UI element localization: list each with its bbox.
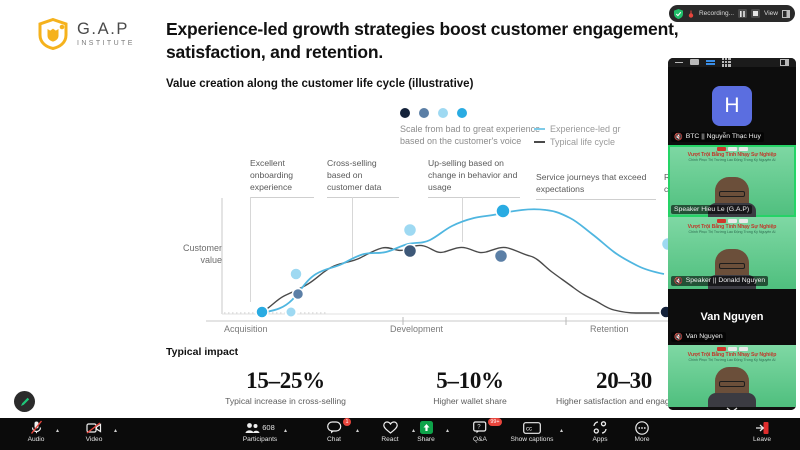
chevron-up-icon[interactable]: ▴ — [560, 427, 563, 434]
avatar: H — [712, 86, 752, 126]
svg-text:cc: cc — [526, 426, 532, 432]
legend-row-experience: Experience-led gr — [534, 122, 621, 135]
participant-name-badge: 🔇 Speaker || Donald Nguyen — [671, 276, 768, 286]
callout-service-journeys-text: Service journeys that exceed expectation… — [536, 172, 646, 194]
microphone-muted-icon: 🔇 — [674, 333, 683, 341]
callout-up-selling-text: Up-selling based on change in behavior a… — [428, 158, 517, 192]
toolbar-label: Audio — [8, 436, 64, 443]
toolbar-label: Leave — [734, 436, 790, 443]
person-silhouette — [715, 367, 749, 407]
shared-banner: Vượt Trội Bằng Tính Nhạy Sự Nghiệp Chinh… — [668, 219, 796, 234]
marker-onboarding-typical — [293, 289, 304, 300]
participants-count: 608 — [262, 423, 275, 432]
annotate-pen-button[interactable] — [14, 391, 35, 412]
more-icon — [614, 420, 670, 435]
legend-label-typical: Typical life cycle — [550, 137, 615, 147]
microphone-muted-icon: 🔇 — [674, 133, 683, 141]
participants-icon: 608 — [232, 420, 288, 435]
toolbar-leave-button[interactable]: Leave — [734, 420, 790, 443]
x-category-acquisition: Acquisition — [224, 324, 268, 334]
stat-value: 15–25% — [183, 368, 388, 394]
marker-acquisition-start — [256, 306, 268, 318]
layout-icon[interactable] — [782, 10, 790, 18]
video-tile[interactable]: Vượt Trội Bằng Tính Nhạy Sự Nghiệp Chinh… — [668, 217, 796, 289]
pen-icon — [19, 396, 31, 408]
x-category-retention: Retention — [590, 324, 629, 334]
legend-row-typical: Typical life cycle — [534, 135, 621, 148]
callout-onboarding: Excellent onboarding experience — [250, 158, 314, 198]
svg-text:?: ? — [477, 425, 481, 431]
chevron-up-icon[interactable]: ▴ — [284, 427, 287, 434]
filmstrip-header[interactable] — [668, 58, 796, 67]
logo-subtitle: INSTITUTE — [77, 40, 135, 47]
scale-caption-line-2: based on the customer's voice — [400, 135, 540, 147]
view-label[interactable]: View — [764, 10, 778, 17]
filmstrip-scroll-down[interactable] — [668, 407, 796, 410]
marker-up-selling-typical — [404, 245, 417, 258]
pause-recording-button[interactable] — [738, 9, 747, 18]
participant-name-badge: Speaker Hieu Le (G.A.P) — [671, 205, 752, 214]
banner-chips — [668, 147, 796, 151]
chart-svg — [166, 196, 676, 336]
participant-name-badge: 🔇 Van Nguyen — [671, 332, 726, 342]
toolbar-label: Participants — [232, 436, 288, 443]
stat-cross-selling: 15–25% Typical increase in cross-selling — [183, 368, 388, 406]
toolbar-more-button[interactable]: More — [614, 420, 670, 443]
video-tile[interactable]: Van Nguyen 🔇 Van Nguyen — [668, 289, 796, 345]
toolbar-label: Chat — [306, 436, 362, 443]
typical-impact-title: Typical impact — [166, 346, 238, 358]
microphone-muted-icon: 🔇 — [674, 277, 683, 285]
toolbar-label: Video — [66, 436, 122, 443]
stat-label: Higher wallet share — [390, 396, 550, 406]
toolbar-label: Share — [398, 436, 454, 443]
series-line-experience — [266, 209, 664, 312]
toolbar-audio-button[interactable]: Audio ▴ — [8, 420, 64, 443]
chevron-up-icon[interactable]: ▴ — [56, 427, 59, 434]
banner-subtitle: Chinh Phục Thị Trường Lao Động Trong Kỷ … — [668, 358, 796, 362]
chevron-down-icon — [726, 407, 738, 410]
record-dot-icon — [687, 10, 695, 18]
scale-dot-2 — [419, 108, 429, 118]
banner-chips — [668, 347, 796, 351]
participant-name-badge: 🔇 BTC || Nguyễn Thạc Huy — [671, 132, 764, 142]
stop-icon — [753, 11, 758, 16]
stat-value: 5–10% — [390, 368, 550, 394]
toolbar-share-button[interactable]: Share ▴ — [398, 420, 454, 443]
pause-icon — [740, 11, 745, 17]
marker-onboarding — [290, 268, 302, 280]
scale-dot-3 — [438, 108, 448, 118]
callout-cross-selling-text: Cross-selling based on customer data — [327, 158, 381, 192]
callout-up-selling: Up-selling based on change in behavior a… — [428, 158, 520, 198]
marker-service-typical — [495, 250, 508, 263]
legend-swatch-typical — [534, 141, 545, 143]
legend-label-experience: Experience-led gr — [550, 124, 621, 134]
shield-logo-icon — [38, 18, 68, 50]
participant-name: Speaker || Donald Nguyen — [686, 277, 765, 284]
leave-icon — [734, 420, 790, 435]
legend-swatch-experience — [534, 128, 545, 130]
toolbar-label: Show captions — [494, 436, 570, 443]
cc-icon: cc — [494, 420, 570, 435]
toolbar-video-button[interactable]: Video ▴ — [66, 420, 122, 443]
slide-subheadline: Value creation along the customer life c… — [166, 78, 473, 90]
shield-check-icon — [674, 9, 683, 19]
participant-name: Speaker Hieu Le (G.A.P) — [674, 206, 749, 213]
toolbar-captions-button[interactable]: cc Show captions ▴ — [494, 420, 570, 443]
scale-dot-1 — [400, 108, 410, 118]
scale-dot-4 — [457, 108, 467, 118]
scale-caption-line-1: Scale from bad to great experience — [400, 123, 540, 135]
zoom-toolbar[interactable]: Audio ▴ Video ▴ 608 Participants ▴ — [0, 418, 800, 450]
stop-recording-button[interactable] — [751, 9, 760, 18]
participant-name: BTC || Nguyễn Thạc Huy — [686, 133, 761, 140]
callout-cross-selling: Cross-selling based on customer data — [327, 158, 399, 198]
toolbar-participants-button[interactable]: 608 Participants ▴ — [232, 420, 288, 443]
video-tile[interactable]: Vượt Trội Bằng Tính Nhạy Sự Nghiệp Chinh… — [668, 345, 796, 407]
marker-service-journeys — [496, 204, 510, 218]
grid-view-icon[interactable] — [722, 58, 731, 67]
banner-subtitle: Chinh Phục Thị Trường Lao Động Trong Kỷ … — [668, 158, 796, 162]
participant-name: Van Nguyen — [686, 333, 723, 340]
stat-wallet-share: 5–10% Higher wallet share — [390, 368, 550, 406]
chevron-up-icon[interactable]: ▴ — [356, 427, 359, 434]
experience-scale-legend: Scale from bad to great experience based… — [400, 108, 540, 147]
sidebar-icon[interactable] — [780, 59, 789, 66]
banner-chips — [668, 219, 796, 223]
x-category-development: Development — [390, 324, 443, 334]
life-cycle-chart — [166, 196, 676, 336]
toolbar-label: More — [614, 436, 670, 443]
recording-status-bar[interactable]: Recording... View — [669, 5, 795, 22]
chart-series-legend: Experience-led gr Typical life cycle — [534, 122, 621, 148]
chat-icon: 1 — [306, 420, 362, 435]
gallery-view-icon[interactable] — [706, 60, 715, 66]
series-line-typical — [262, 245, 662, 313]
marker-up-selling — [404, 224, 417, 237]
chevron-up-icon[interactable]: ▴ — [114, 427, 117, 434]
recording-label: Recording... — [699, 10, 734, 17]
video-tile[interactable]: Vượt Trội Bằng Tính Nhạy Sự Nghiệp Chinh… — [668, 145, 796, 217]
logo-wordmark: G.A.P — [77, 21, 135, 38]
stat-label: Typical increase in cross-selling — [183, 396, 388, 406]
scale-dots — [400, 108, 540, 118]
marker-acquisition-typical — [286, 307, 297, 318]
slide-headline: Experience-led growth strategies boost c… — [166, 18, 741, 65]
shared-banner: Vượt Trội Bằng Tính Nhạy Sự Nghiệp Chinh… — [668, 147, 796, 162]
callout-onboarding-text: Excellent onboarding experience — [250, 158, 293, 192]
speaker-view-icon[interactable] — [690, 59, 699, 65]
chat-badge: 1 — [343, 418, 351, 426]
shared-banner: Vượt Trội Bằng Tính Nhạy Sự Nghiệp Chinh… — [668, 347, 796, 362]
toolbar-chat-button[interactable]: 1 Chat ▴ — [306, 420, 362, 443]
video-tile[interactable]: H 🔇 BTC || Nguyễn Thạc Huy — [668, 67, 796, 145]
banner-subtitle: Chinh Phục Thị Trường Lao Động Trong Kỷ … — [668, 230, 796, 234]
camera-feed: Vượt Trội Bằng Tính Nhạy Sự Nghiệp Chinh… — [668, 345, 796, 407]
minimize-icon[interactable] — [675, 62, 683, 64]
chevron-up-icon[interactable]: ▴ — [446, 427, 449, 434]
gap-institute-logo: G.A.P INSTITUTE — [38, 18, 135, 50]
video-filmstrip[interactable]: H 🔇 BTC || Nguyễn Thạc Huy Vượt Trội Bằn… — [668, 58, 796, 410]
